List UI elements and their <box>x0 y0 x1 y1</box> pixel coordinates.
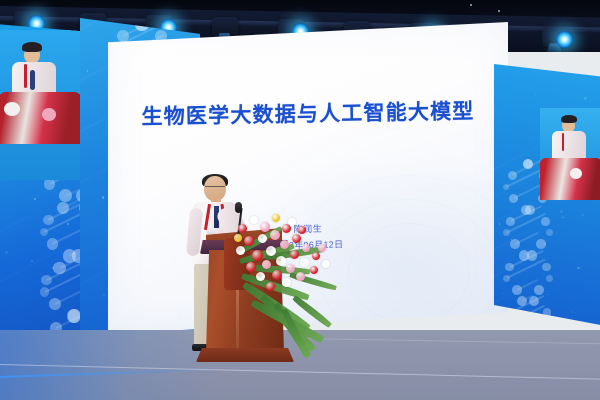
live-video-feed-right <box>540 108 600 200</box>
flower-bloom <box>272 214 280 222</box>
dna-microdot <box>102 196 104 198</box>
flower-bloom <box>256 272 265 281</box>
dna-node <box>546 229 553 236</box>
flower-bloom <box>298 226 306 234</box>
dna-node <box>546 275 553 282</box>
flower-bloom <box>310 266 318 274</box>
feed-bloom <box>42 108 56 121</box>
feed-tie <box>30 70 35 90</box>
flower-bloom <box>290 250 299 259</box>
flower-bloom <box>238 224 247 233</box>
ceiling-speck-icon <box>470 4 472 6</box>
right-blue-panel <box>494 64 600 326</box>
flower-bloom <box>262 260 271 269</box>
flower-bloom <box>280 240 289 249</box>
dna-microdot <box>544 243 546 245</box>
feed-hair <box>561 115 577 123</box>
feed-flowers <box>540 158 600 200</box>
flower-bloom <box>272 270 282 280</box>
conference-stage-scene: 生物医学大数据与人工智能大模型 陈润生 2023年06月12日 <box>0 0 600 400</box>
dna-node <box>503 320 510 326</box>
flower-bloom <box>302 244 310 252</box>
dna-microdot <box>5 251 8 254</box>
flower-bloom <box>234 234 242 242</box>
dna-microdot <box>31 260 33 262</box>
dna-microdot <box>562 217 564 219</box>
dna-rung <box>513 185 540 199</box>
flower-bloom <box>322 260 330 268</box>
dna-microdot <box>535 94 536 95</box>
dna-microdot <box>577 267 579 269</box>
live-video-feed-left <box>0 30 82 180</box>
panel-ray-stripe <box>494 251 540 282</box>
flower-bloom <box>270 230 280 240</box>
podium-base <box>196 348 294 362</box>
dna-microdot <box>576 71 579 74</box>
flower-bloom <box>296 272 305 281</box>
dna-node <box>543 308 551 316</box>
dna-rung <box>74 27 75 29</box>
glasses-icon <box>205 186 225 192</box>
feed-flowers <box>0 92 82 144</box>
ceiling-speck-icon <box>498 10 500 12</box>
feed-lanyard <box>562 133 564 151</box>
feed-hair <box>22 42 42 52</box>
dna-rung <box>515 232 539 245</box>
dna-microdot <box>67 223 69 225</box>
dna-microdot <box>87 70 88 71</box>
flower-bloom <box>246 262 256 272</box>
dna-node <box>534 285 544 295</box>
dna-rung <box>507 305 545 325</box>
dna-microdot <box>575 71 577 73</box>
dna-rung <box>142 23 143 25</box>
dna-node <box>545 320 552 326</box>
flower-bloom <box>318 244 326 252</box>
feed-bloom <box>570 168 582 179</box>
dna-microdot <box>584 97 587 100</box>
dna-microdot <box>547 294 548 295</box>
feed-lanyard <box>24 64 27 88</box>
dna-microdot <box>524 323 527 326</box>
flower-bloom <box>266 282 275 291</box>
flower-bloom <box>266 246 276 256</box>
dna-microdot <box>503 293 504 294</box>
flower-bloom <box>292 234 301 243</box>
dna-microdot <box>499 223 500 224</box>
flower-bloom <box>236 246 245 255</box>
dna-microdot <box>581 214 583 216</box>
dna-microdot <box>34 198 36 200</box>
flower-bloom <box>250 216 258 224</box>
flower-bloom <box>282 278 291 287</box>
flower-bloom <box>276 256 286 266</box>
dna-microdot <box>103 294 105 296</box>
dna-microdot <box>572 311 573 312</box>
flower-bloom <box>258 234 267 243</box>
flower-bloom <box>286 264 295 273</box>
flower-bloom <box>300 258 309 267</box>
flower-bloom <box>252 250 263 261</box>
flower-bloom <box>244 236 254 246</box>
floral-arrangement <box>232 210 360 332</box>
flower-bloom <box>312 252 320 260</box>
flower-bloom <box>288 218 296 226</box>
dna-microdot <box>103 133 104 134</box>
flower-bloom <box>260 222 270 232</box>
feed-bloom <box>4 102 20 116</box>
dna-node <box>542 263 550 271</box>
